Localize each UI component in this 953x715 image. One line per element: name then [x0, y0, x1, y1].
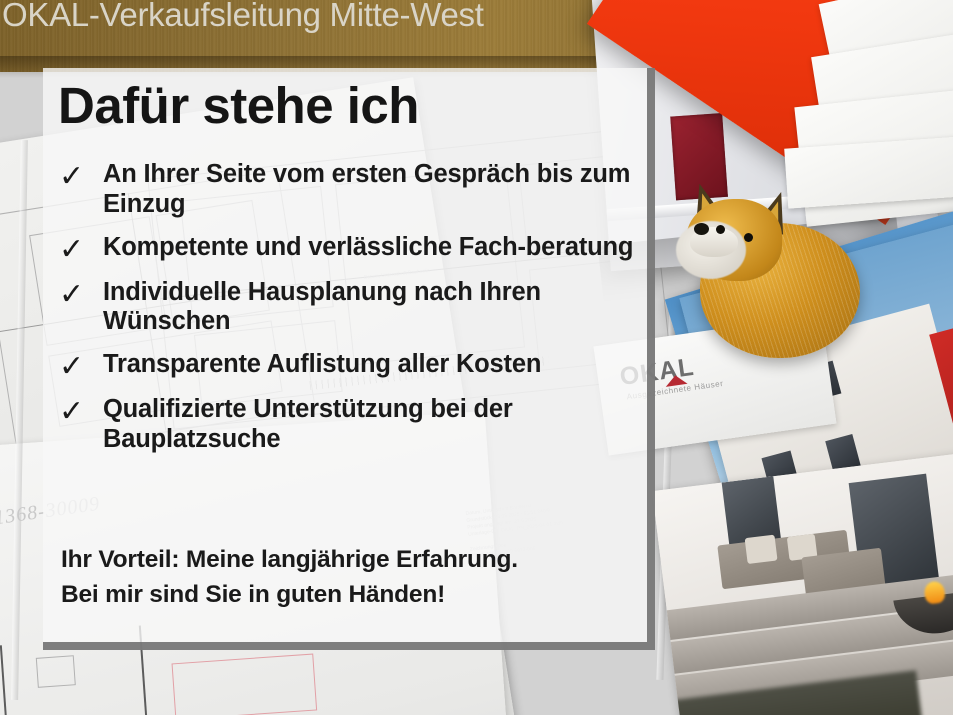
checkmark-icon: ✓ — [59, 233, 103, 265]
list-item-label: Transparente Auflistung aller Kosten — [103, 350, 541, 380]
list-item-label: Individuelle Hausplanung nach Ihren Wüns… — [103, 278, 634, 338]
list-item: ✓ Transparente Auflistung aller Kosten — [59, 350, 634, 382]
blueprint-highlight — [172, 654, 318, 715]
terrace-cushion — [745, 535, 778, 564]
checkmark-icon: ✓ — [59, 395, 103, 427]
list-item: ✓ Qualifizierte Unterstützung bei der Ba… — [59, 395, 634, 455]
closing-line-1: Ihr Vorteil: Meine langjährige Erfahrung… — [61, 543, 621, 577]
closing-line-2: Bei mir sind Sie in guten Händen! — [61, 578, 621, 612]
list-item: ✓ An Ihrer Seite vom ersten Gespräch bis… — [59, 160, 634, 220]
header-caption: OKAL-Verkaufsleitung Mitte-West — [0, 0, 953, 34]
fox-nose — [694, 223, 709, 235]
content-panel: Dafür stehe ich ✓ An Ihrer Seite vom ers… — [43, 68, 655, 650]
benefits-list: ✓ An Ihrer Seite vom ersten Gespräch bis… — [59, 160, 634, 468]
blueprint-symbol — [36, 655, 76, 688]
fox-plush-toy — [672, 165, 872, 365]
list-item-label: Kompetente und verlässliche Fach-beratun… — [103, 233, 633, 263]
slide-canvas: 1368-30009 Datum, Unterschrift Bauherrin — [0, 0, 953, 715]
brochure-terrace-photo — [652, 451, 953, 715]
list-item: ✓ Kompetente und verlässliche Fach-berat… — [59, 233, 634, 265]
fox-eye-left — [716, 225, 725, 234]
page-title: Dafür stehe ich — [58, 80, 419, 131]
checkmark-icon: ✓ — [59, 350, 103, 382]
closing-statement: Ihr Vorteil: Meine langjährige Erfahrung… — [61, 543, 621, 612]
checkmark-icon: ✓ — [59, 278, 103, 310]
list-item: ✓ Individuelle Hausplanung nach Ihren Wü… — [59, 278, 634, 338]
list-item-label: Qualifizierte Unterstützung bei der Baup… — [103, 395, 634, 455]
checkmark-icon: ✓ — [59, 160, 103, 192]
fox-eye-right — [744, 233, 753, 242]
list-item-label: An Ihrer Seite vom ersten Gespräch bis z… — [103, 160, 634, 220]
